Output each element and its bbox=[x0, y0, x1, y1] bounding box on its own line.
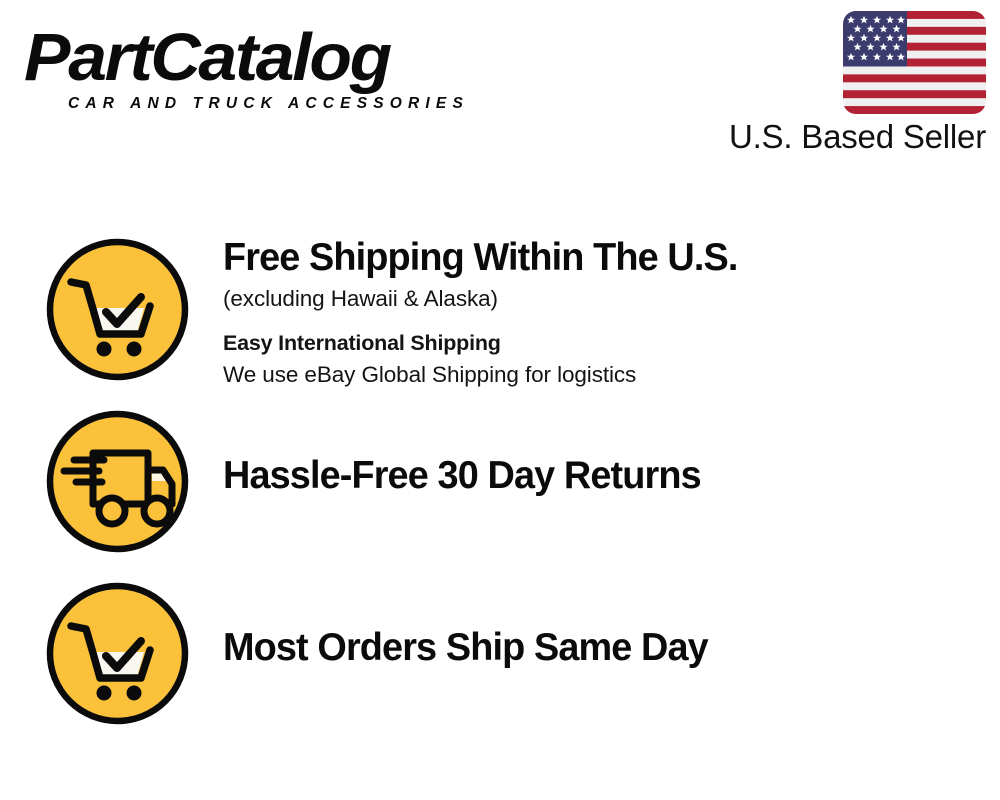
brand-logo[interactable]: PartCatalog CAR AND TRUCK ACCESSORIES bbox=[24, 22, 494, 117]
feature-subtitle: (excluding Hawaii & Alaska) bbox=[223, 284, 983, 314]
feature-text: Free Shipping Within The U.S. (excluding… bbox=[223, 235, 983, 390]
feature-row: Most Orders Ship Same Day bbox=[0, 569, 1000, 739]
feature-text: Most Orders Ship Same Day bbox=[223, 625, 983, 671]
feature-subtitle-bold: Easy International Shipping bbox=[223, 328, 983, 358]
feature-title: Hassle-Free 30 Day Returns bbox=[223, 453, 960, 499]
us-flag-icon bbox=[843, 11, 986, 114]
feature-text: Hassle-Free 30 Day Returns bbox=[223, 453, 983, 499]
feature-title: Free Shipping Within The U.S. bbox=[223, 235, 960, 281]
feature-row: Free Shipping Within The U.S. (excluding… bbox=[0, 225, 1000, 395]
feature-row: Hassle-Free 30 Day Returns bbox=[0, 397, 1000, 567]
shopping-cart-check-icon bbox=[44, 236, 191, 383]
delivery-truck-icon bbox=[44, 408, 191, 555]
feature-subtitle: We use eBay Global Shipping for logistic… bbox=[223, 360, 983, 390]
seller-badge-label: U.S. Based Seller bbox=[714, 116, 986, 158]
banner-header: PartCatalog CAR AND TRUCK ACCESSORIES bbox=[0, 0, 1000, 175]
shopping-cart-check-icon bbox=[44, 580, 191, 727]
brand-wordmark: PartCatalog bbox=[24, 22, 390, 94]
brand-tagline: CAR AND TRUCK ACCESSORIES bbox=[68, 95, 469, 113]
seller-badge: U.S. Based Seller bbox=[714, 8, 986, 160]
feature-title: Most Orders Ship Same Day bbox=[223, 625, 960, 671]
